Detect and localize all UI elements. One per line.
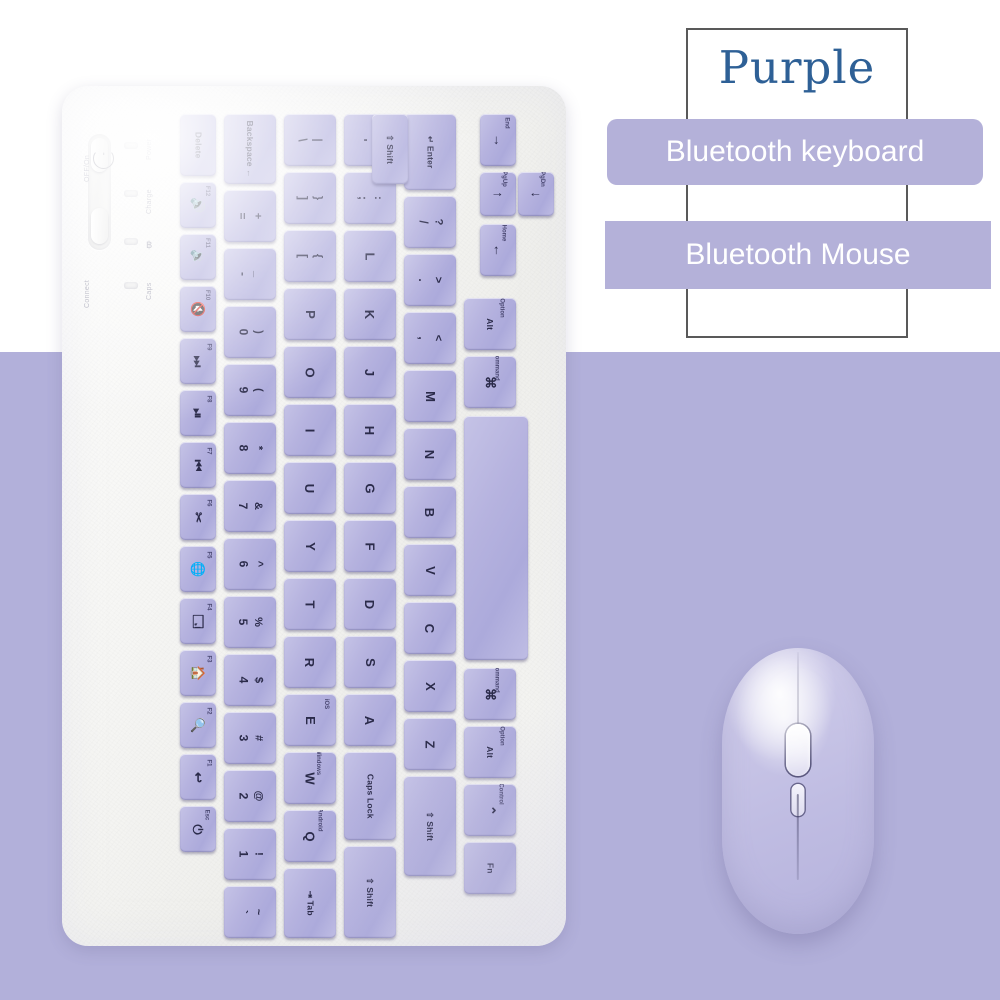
key-o[interactable]: O: [284, 346, 336, 398]
bluetooth-keyboard[interactable]: OFF/On Connect Power Charge ฿ Caps Delet…: [62, 86, 566, 946]
key-0[interactable]: )0: [224, 306, 276, 358]
key-arrow-home[interactable]: ← Home: [480, 224, 516, 276]
key-f4[interactable]: 🗔 F4: [180, 598, 216, 644]
led-power: [124, 142, 138, 149]
key-caps-lock[interactable]: Caps Lock: [344, 752, 396, 840]
bluetooth-icon: ฿: [146, 240, 152, 251]
key-6[interactable]: ^6: [224, 538, 276, 590]
mouse-button-split: [797, 652, 799, 730]
key-h[interactable]: H: [344, 404, 396, 456]
key-9[interactable]: (9: [224, 364, 276, 416]
power-icon: [93, 148, 114, 169]
key-c[interactable]: C: [404, 602, 456, 654]
key-f9[interactable]: ⏭ F9: [180, 338, 216, 384]
key-a[interactable]: A: [344, 694, 396, 746]
key-space[interactable]: [464, 416, 528, 660]
key-q[interactable]: Q Android: [284, 810, 336, 862]
led-charge: [124, 190, 138, 197]
switch-label-connect: Connect: [84, 280, 91, 308]
switch-label-on-off: OFF/On: [84, 155, 91, 182]
key-f11[interactable]: 🔉 F11: [180, 234, 216, 280]
key-k[interactable]: K: [344, 288, 396, 340]
key-x[interactable]: X: [404, 660, 456, 712]
key-e[interactable]: E iOS: [284, 694, 336, 746]
key-g[interactable]: G: [344, 462, 396, 514]
key-b[interactable]: B: [404, 486, 456, 538]
key-w[interactable]: W Windows: [284, 752, 336, 804]
key-j[interactable]: J: [344, 346, 396, 398]
led-label-charge: Charge: [146, 189, 153, 214]
key-f5[interactable]: 🌐 F5: [180, 546, 216, 592]
key-v[interactable]: V: [404, 544, 456, 596]
key-backtick[interactable]: ~`: [224, 886, 276, 938]
key-y[interactable]: Y: [284, 520, 336, 572]
key-period[interactable]: >.: [404, 254, 456, 306]
key-f3[interactable]: 🏠 F3: [180, 650, 216, 696]
key-8[interactable]: *8: [224, 422, 276, 474]
key-f12[interactable]: 🔊 F12: [180, 182, 216, 228]
key-f1[interactable]: ↩ F1: [180, 754, 216, 800]
key-3[interactable]: #3: [224, 712, 276, 764]
mouse-gloss: [736, 656, 832, 776]
key-enter[interactable]: ↵ Enter: [404, 114, 456, 190]
key-s[interactable]: S: [344, 636, 396, 688]
key-shift-right[interactable]: ⇧ Shift: [404, 776, 456, 876]
key-shift-far[interactable]: ⇧ Shift: [372, 114, 408, 184]
key-command-right[interactable]: ⌘ Command: [464, 356, 516, 408]
key-z[interactable]: Z: [404, 718, 456, 770]
key-4[interactable]: $4: [224, 654, 276, 706]
key-m[interactable]: M: [404, 370, 456, 422]
key-fn[interactable]: Fn: [464, 842, 516, 894]
key-t[interactable]: T: [284, 578, 336, 630]
power-switch-knob[interactable]: [91, 138, 108, 172]
power-switch-track[interactable]: [88, 134, 111, 250]
label-bluetooth-keyboard: Bluetooth keyboard: [607, 119, 983, 185]
key-n[interactable]: N: [404, 428, 456, 480]
key-l[interactable]: L: [344, 230, 396, 282]
key-equal[interactable]: +=: [224, 190, 276, 242]
key-esc[interactable]: ⏻ Esc: [180, 806, 216, 852]
key-delete[interactable]: Delete: [180, 114, 216, 176]
key-p[interactable]: P: [284, 288, 336, 340]
scroll-wheel[interactable]: [786, 724, 810, 776]
led-label-power: Power: [146, 139, 153, 160]
key-u[interactable]: U: [284, 462, 336, 514]
page-title: Purple: [686, 34, 908, 100]
key-bracket-left[interactable]: {[: [284, 230, 336, 282]
led-bluetooth: [124, 238, 138, 245]
wireless-mouse[interactable]: [722, 648, 874, 934]
key-i[interactable]: I: [284, 404, 336, 456]
label-bluetooth-mouse: Bluetooth Mouse: [605, 221, 991, 289]
key-comma[interactable]: <,: [404, 312, 456, 364]
key-arrow-pgup[interactable]: ↑ PgUp: [480, 172, 516, 216]
key-f8[interactable]: ⏯ F8: [180, 390, 216, 436]
key-alt-right[interactable]: Alt Option: [464, 298, 516, 350]
key-tab[interactable]: ⇥ Tab: [284, 868, 336, 938]
key-1[interactable]: !1: [224, 828, 276, 880]
key-alt-left[interactable]: Alt Option: [464, 726, 516, 778]
led-caps: [124, 282, 138, 289]
key-backspace[interactable]: Backspace ←: [224, 114, 276, 184]
key-f6[interactable]: ✂ F6: [180, 494, 216, 540]
key-arrow-pgdn[interactable]: ↓ PgDn: [518, 172, 554, 216]
key-bracket-right[interactable]: }]: [284, 172, 336, 224]
key-command-left[interactable]: ⌘ Command: [464, 668, 516, 720]
key-f10[interactable]: 🔇 F10: [180, 286, 216, 332]
key-backslash[interactable]: |\: [284, 114, 336, 166]
key-d[interactable]: D: [344, 578, 396, 630]
key-f7[interactable]: ⏮ F7: [180, 442, 216, 488]
key-control[interactable]: ⌃ Control: [464, 784, 516, 836]
key-f2[interactable]: 🔍 F2: [180, 702, 216, 748]
key-f[interactable]: F: [344, 520, 396, 572]
product-image: OFF/On Connect Power Charge ฿ Caps Delet…: [0, 0, 1000, 1000]
led-label-caps: Caps: [146, 282, 153, 300]
connect-switch-knob[interactable]: [91, 208, 108, 244]
key-5[interactable]: %5: [224, 596, 276, 648]
key-minus[interactable]: _-: [224, 248, 276, 300]
key-slash[interactable]: ?/: [404, 196, 456, 248]
key-shift-left[interactable]: ⇧ Shift: [344, 846, 396, 938]
key-7[interactable]: &7: [224, 480, 276, 532]
key-arrow-end[interactable]: → End: [480, 114, 516, 166]
key-r[interactable]: R: [284, 636, 336, 688]
key-2[interactable]: @2: [224, 770, 276, 822]
